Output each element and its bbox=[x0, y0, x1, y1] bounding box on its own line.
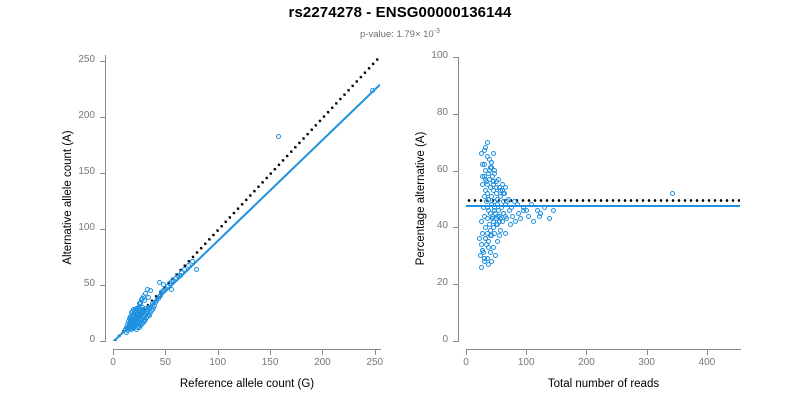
data-point bbox=[509, 205, 514, 210]
data-point bbox=[493, 253, 498, 258]
y-tick-mark bbox=[453, 171, 458, 172]
x-tick-mark bbox=[375, 350, 376, 355]
data-point bbox=[169, 287, 174, 292]
x-axis-title-right: Total number of reads bbox=[466, 378, 741, 390]
data-point bbox=[670, 191, 675, 196]
scatter-panel-allele-counts: 050100150200250 050100150200250 Referenc… bbox=[0, 0, 400, 400]
data-point bbox=[526, 214, 531, 219]
x-tick-label: 250 bbox=[355, 357, 395, 368]
y-tick-mark bbox=[453, 114, 458, 115]
data-point bbox=[479, 265, 484, 270]
y-tick-mark bbox=[100, 229, 105, 230]
data-point bbox=[510, 214, 515, 219]
x-tick-mark bbox=[218, 350, 219, 355]
data-point bbox=[489, 160, 494, 165]
x-tick-mark bbox=[586, 350, 587, 355]
x-tick-label: 300 bbox=[627, 357, 667, 368]
y-axis-title-left: Alternative allele count (A) bbox=[62, 54, 74, 341]
data-point bbox=[503, 185, 508, 190]
data-point bbox=[194, 267, 199, 272]
x-axis-title-left: Reference allele count (G) bbox=[113, 378, 381, 390]
data-point bbox=[483, 145, 488, 150]
data-point bbox=[515, 202, 520, 207]
data-point bbox=[497, 233, 502, 238]
x-tick-mark bbox=[647, 350, 648, 355]
data-point bbox=[489, 259, 494, 264]
data-point bbox=[482, 259, 487, 264]
x-tick-label: 0 bbox=[93, 357, 133, 368]
x-tick-label: 400 bbox=[687, 357, 727, 368]
x-tick-label: 0 bbox=[446, 357, 486, 368]
data-point bbox=[537, 214, 542, 219]
data-point bbox=[547, 216, 552, 221]
data-point bbox=[479, 219, 484, 224]
data-point bbox=[146, 295, 151, 300]
data-point bbox=[491, 151, 496, 156]
data-point bbox=[482, 162, 487, 167]
x-tick-label: 100 bbox=[506, 357, 546, 368]
x-axis-line-right bbox=[466, 349, 741, 350]
plot-area-percentage-alternative bbox=[466, 57, 740, 341]
data-point bbox=[513, 219, 518, 224]
data-point bbox=[182, 267, 187, 272]
y-tick-mark bbox=[100, 117, 105, 118]
y-axis-line-left bbox=[105, 55, 106, 342]
y-tick-mark bbox=[453, 341, 458, 342]
x-tick-mark bbox=[165, 350, 166, 355]
data-point bbox=[485, 205, 490, 210]
data-point bbox=[503, 231, 508, 236]
x-tick-mark bbox=[707, 350, 708, 355]
data-point bbox=[370, 88, 375, 93]
x-tick-mark bbox=[270, 350, 271, 355]
data-point bbox=[276, 134, 281, 139]
y-axis-title-right: Percentage alternative (A) bbox=[415, 56, 427, 341]
data-point bbox=[496, 177, 501, 182]
x-tick-mark bbox=[322, 350, 323, 355]
data-point bbox=[148, 288, 153, 293]
data-point bbox=[531, 219, 536, 224]
x-tick-label: 200 bbox=[566, 357, 606, 368]
data-point bbox=[488, 250, 493, 255]
data-point bbox=[477, 236, 482, 241]
data-point bbox=[508, 222, 513, 227]
data-point bbox=[486, 197, 491, 202]
data-point bbox=[479, 242, 484, 247]
data-point bbox=[190, 259, 195, 264]
data-point bbox=[487, 168, 492, 173]
plot-area-allele-counts bbox=[113, 55, 380, 341]
y-axis-line-right bbox=[458, 57, 459, 342]
y-tick-mark bbox=[100, 173, 105, 174]
x-tick-mark bbox=[113, 350, 114, 355]
data-point bbox=[491, 245, 496, 250]
x-tick-mark bbox=[526, 350, 527, 355]
y-tick-mark bbox=[100, 285, 105, 286]
data-point bbox=[485, 216, 490, 221]
x-tick-label: 150 bbox=[250, 357, 290, 368]
data-point bbox=[495, 239, 500, 244]
data-point bbox=[503, 214, 508, 219]
x-tick-label: 200 bbox=[302, 357, 342, 368]
data-point bbox=[551, 208, 556, 213]
figure-root: rs2274278 - ENSG00000136144 p-value: 1.7… bbox=[0, 0, 800, 400]
data-point bbox=[480, 248, 485, 253]
y-tick-mark bbox=[453, 227, 458, 228]
data-point bbox=[135, 306, 140, 311]
data-point bbox=[518, 216, 523, 221]
y-tick-mark bbox=[100, 341, 105, 342]
y-tick-mark bbox=[100, 61, 105, 62]
x-tick-mark bbox=[466, 350, 467, 355]
x-axis-line-left bbox=[113, 349, 381, 350]
data-point bbox=[542, 205, 547, 210]
y-tick-mark bbox=[453, 284, 458, 285]
y-tick-mark bbox=[453, 57, 458, 58]
data-point bbox=[492, 208, 497, 213]
data-point bbox=[140, 296, 145, 301]
data-point bbox=[485, 140, 490, 145]
x-tick-label: 100 bbox=[198, 357, 238, 368]
data-point bbox=[505, 199, 510, 204]
data-point bbox=[492, 171, 497, 176]
data-point bbox=[529, 202, 534, 207]
x-tick-label: 50 bbox=[145, 357, 185, 368]
reference-line-identity bbox=[113, 55, 380, 341]
scatter-panel-percentage-alternative: 020406080100 0100200300400 Total number … bbox=[400, 0, 800, 400]
